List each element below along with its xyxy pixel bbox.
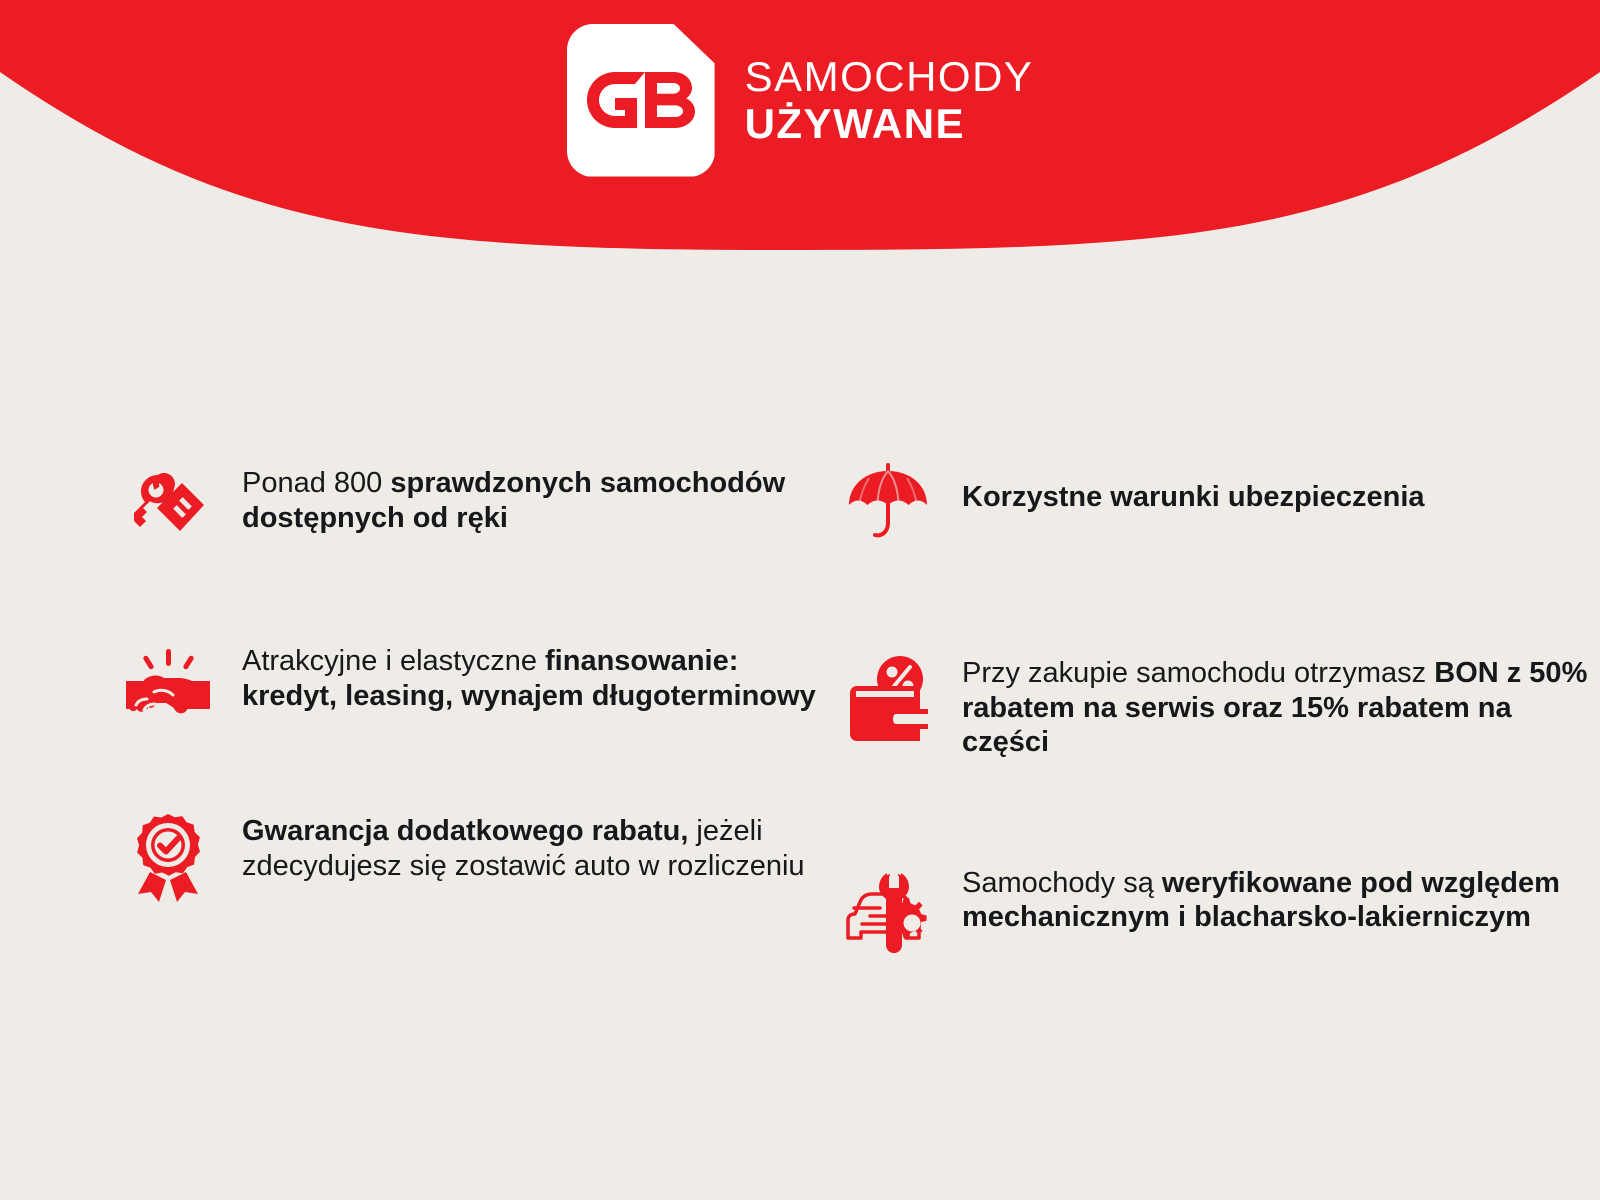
car-wrench-gear-icon — [840, 860, 936, 960]
feature-text-bold: Korzystne warunki ubezpieczenia — [962, 481, 1425, 513]
feature-text-regular: Ponad 800 — [242, 467, 390, 499]
logo-letters-gb — [567, 24, 715, 177]
brand-lockup: SAMOCHODY UŻYWANE — [0, 0, 1600, 200]
brand-line-uzywane: UŻYWANE — [745, 103, 1034, 145]
feature-text: Atrakcyjne i elastyczne finansowanie: kr… — [242, 638, 840, 713]
wallet-percent-icon — [840, 650, 936, 750]
feature-item: Atrakcyjne i elastyczne finansowanie: kr… — [120, 638, 840, 738]
feature-text-regular: Atrakcyjne i elastyczne — [242, 645, 545, 677]
features-left-column: Ponad 800 sprawdzonych samochodów dostęp… — [120, 430, 840, 960]
handshake-icon — [120, 638, 216, 738]
features-grid: Ponad 800 sprawdzonych samochodów dostęp… — [0, 430, 1600, 960]
feature-item: Przy zakupie samochodu otrzymasz BON z 5… — [840, 650, 1600, 760]
feature-text: Samochody są weryfikowane pod względem m… — [962, 860, 1600, 935]
award-badge-check-icon — [120, 808, 216, 908]
brand-line-samochody: SAMOCHODY — [745, 56, 1034, 98]
feature-text: Przy zakupie samochodu otrzymasz BON z 5… — [962, 650, 1600, 760]
feature-text: Ponad 800 sprawdzonych samochodów dostęp… — [242, 460, 840, 535]
gb-letterform-icon — [587, 72, 695, 128]
feature-item: Samochody są weryfikowane pod względem m… — [840, 860, 1600, 960]
feature-item: Gwarancja dodatkowego rabatu, jeżeli zde… — [120, 808, 840, 908]
brand-wordmark: SAMOCHODY UŻYWANE — [745, 56, 1034, 145]
feature-text: Gwarancja dodatkowego rabatu, jeżeli zde… — [242, 808, 840, 883]
gb-logo-mark — [567, 24, 715, 177]
feature-text: Korzystne warunki ubezpieczenia — [962, 454, 1425, 515]
feature-item: Korzystne warunki ubezpieczenia — [840, 454, 1600, 554]
umbrella-icon — [840, 454, 936, 554]
feature-text-regular: Samochody są — [962, 867, 1162, 899]
features-right-column: Korzystne warunki ubezpieczenia — [840, 430, 1600, 960]
key-with-tag-icon — [120, 460, 216, 560]
feature-text-bold: Gwarancja dodatkowego rabatu, — [242, 815, 688, 847]
feature-item: Ponad 800 sprawdzonych samochodów dostęp… — [120, 460, 840, 560]
feature-text-regular: Przy zakupie samochodu otrzymasz — [962, 657, 1434, 689]
